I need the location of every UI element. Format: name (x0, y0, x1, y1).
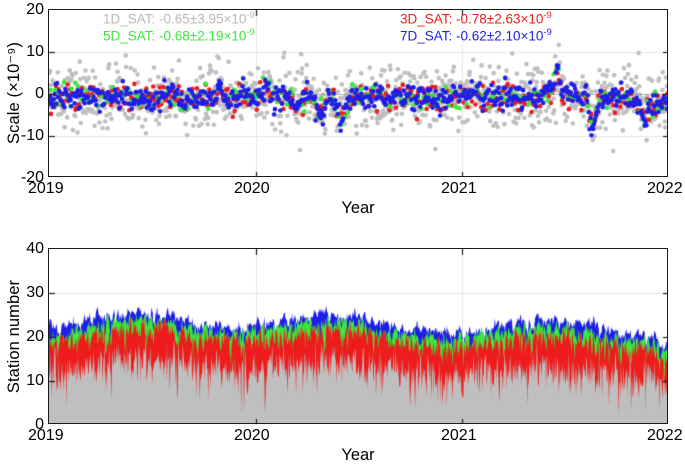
legend-1d-sat-exponent: -9 (246, 10, 254, 21)
legend-3d-sat-exponent: -9 (543, 10, 551, 21)
legend-7d-sat: 7D_SAT: -0.62±2.10×10-9 (400, 27, 552, 44)
legend-1d-sat-text: 1D_SAT: -0.65±3.95×10 (103, 12, 246, 27)
legend-1d-sat: 1D_SAT: -0.65±3.95×10-9 (103, 10, 255, 27)
legend-5d-sat: 5D_SAT: -0.68±2.19×10-9 (103, 27, 255, 44)
legend-7d-sat-text: 7D_SAT: -0.62±2.10×10 (400, 29, 543, 44)
scale-ytick-10: 10 (6, 43, 44, 61)
station-plot-area (48, 248, 668, 424)
legend-5d-sat-exponent: -9 (246, 27, 254, 38)
station-ytick-30: 30 (6, 284, 44, 302)
scale-ytick-20: 20 (6, 1, 44, 19)
legend-3d-sat: 3D_SAT: -0.78±2.63×10-9 (400, 10, 552, 27)
scale-panel-x-axis-label: Year (288, 199, 428, 218)
scale-ytick-0: 0 (6, 85, 44, 103)
scale-ytick-neg10: -10 (1, 127, 44, 145)
scale-xtick-2022: 2022 (647, 180, 683, 198)
scale-xtick-2021: 2021 (441, 180, 477, 198)
station-ytick-20: 20 (6, 328, 44, 346)
station-area-canvas (49, 249, 668, 424)
station-panel-x-axis-label: Year (288, 446, 428, 465)
legend-3d-sat-text: 3D_SAT: -0.78±2.63×10 (400, 12, 543, 27)
scale-xtick-2020: 2020 (234, 180, 270, 198)
scale-xtick-2019: 2019 (28, 180, 64, 198)
station-xtick-2019: 2019 (28, 427, 64, 445)
station-xtick-2021: 2021 (441, 427, 477, 445)
station-xtick-2020: 2020 (234, 427, 270, 445)
legend-7d-sat-exponent: -9 (543, 27, 551, 38)
station-ytick-10: 10 (6, 372, 44, 390)
station-ytick-40: 40 (6, 240, 44, 258)
legend-5d-sat-text: 5D_SAT: -0.68±2.19×10 (103, 29, 246, 44)
figure-root: Scale (×10⁻⁹) 20 10 0 -10 -20 1D_SAT: -0… (0, 0, 685, 465)
station-xtick-2022: 2022 (647, 427, 683, 445)
